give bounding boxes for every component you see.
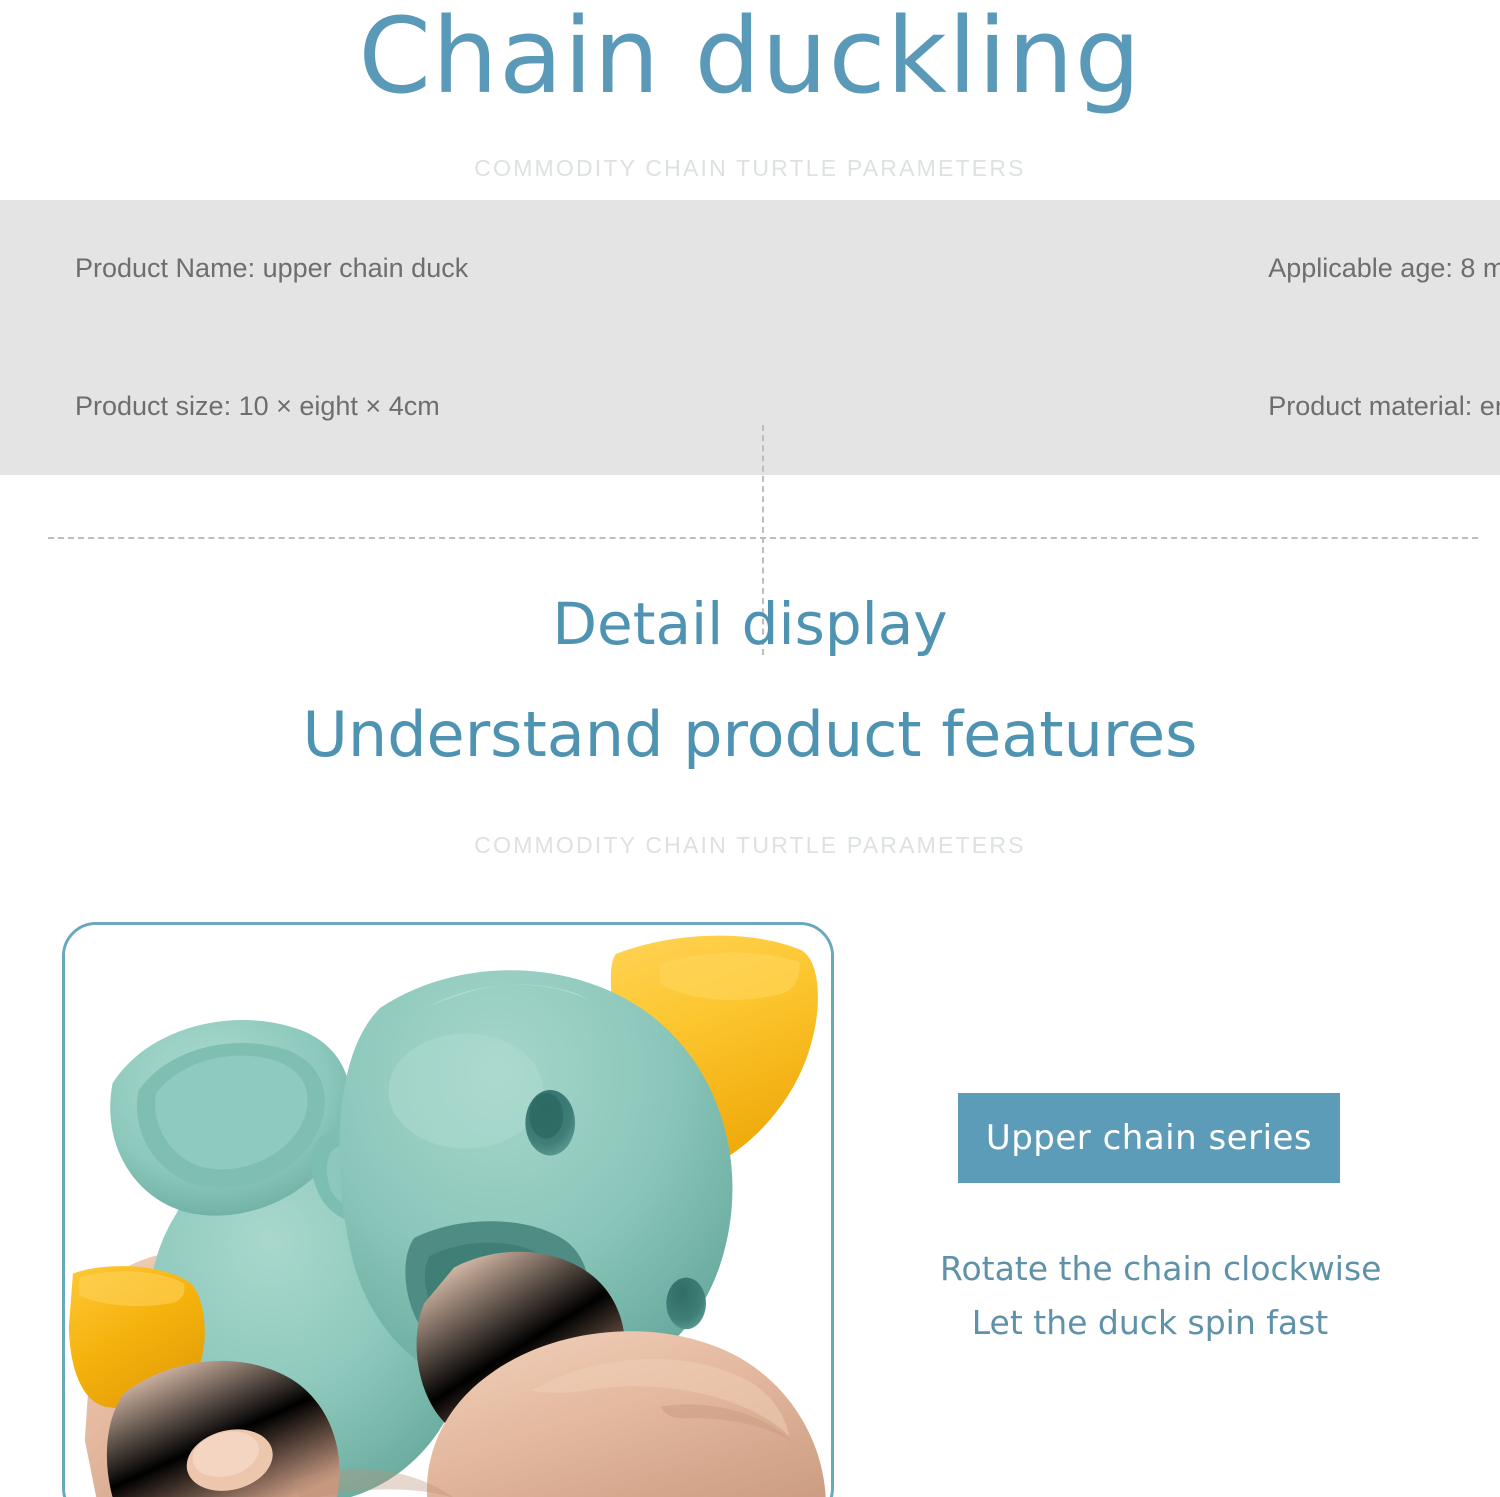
spec-product-name: Product Name: upper chain duck bbox=[0, 200, 468, 338]
duck-toy-photo bbox=[65, 925, 831, 1497]
series-badge-label: Upper chain series bbox=[986, 1118, 1312, 1158]
spec-product-size: Product size: 10 × eight × 4cm bbox=[0, 338, 468, 476]
hero-eyebrow: COMMODITY CHAIN TURTLE PARAMETERS bbox=[0, 155, 1500, 182]
duck-hole-lower bbox=[666, 1278, 706, 1330]
spec-product-material: Product material: environmentally friend… bbox=[468, 338, 1500, 476]
spec-grid: Product Name: upper chain duck Applicabl… bbox=[0, 200, 1500, 475]
feature-line-1: Rotate the chain clockwise bbox=[940, 1249, 1360, 1288]
page-title: Chain duckling bbox=[0, 0, 1500, 116]
spec-applicable-age: Applicable age: 8 months and above bbox=[468, 200, 1500, 338]
series-badge[interactable]: Upper chain series bbox=[958, 1093, 1340, 1183]
spec-panel: Product Name: upper chain duck Applicabl… bbox=[0, 200, 1500, 475]
detail-heading: Detail display bbox=[0, 588, 1500, 660]
product-detail-page: Chain duckling COMMODITY CHAIN TURTLE PA… bbox=[0, 0, 1500, 1497]
product-photo-frame bbox=[62, 922, 834, 1497]
detail-eyebrow: COMMODITY CHAIN TURTLE PARAMETERS bbox=[0, 832, 1500, 859]
duck-hole-upper-inner bbox=[529, 1093, 563, 1139]
detail-subheading: Understand product features bbox=[0, 696, 1500, 774]
head-highlight bbox=[388, 1033, 543, 1148]
feature-line-2: Let the duck spin fast bbox=[940, 1303, 1360, 1342]
